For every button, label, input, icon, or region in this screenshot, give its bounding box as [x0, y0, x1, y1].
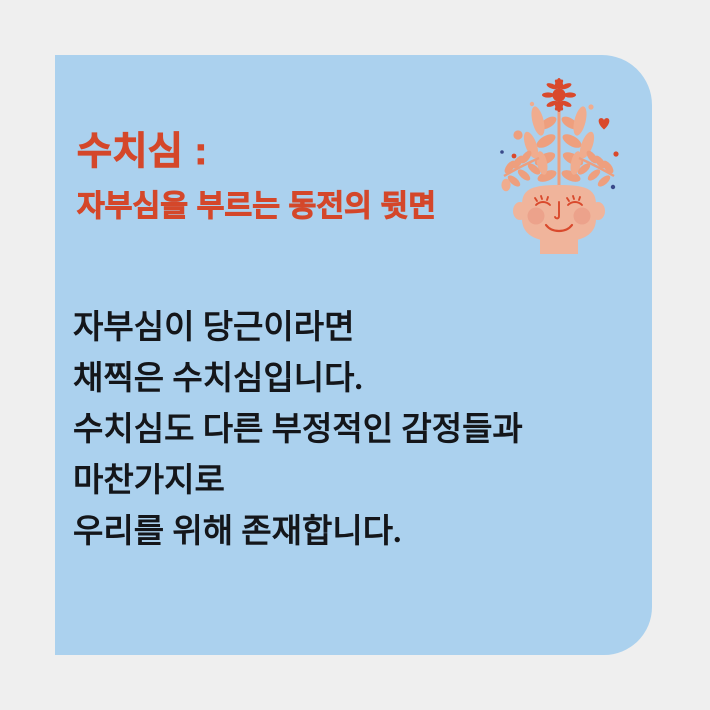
body-line: 채찍은 수치심입니다. [73, 354, 633, 405]
body-text-block: 자부심이 당근이라면 채찍은 수치심입니다. 수치심도 다른 부정적인 감정들과… [73, 303, 633, 558]
content-card: 수치심 : 자부심을 부르는 동전의 뒷면 자부심이 당근이라면 채찍은 수치심… [55, 55, 652, 655]
page-title: 수치심 : [77, 133, 597, 173]
body-line: 우리를 위해 존재합니다. [73, 507, 633, 558]
page-subtitle: 자부심을 부르는 동전의 뒷면 [77, 191, 597, 223]
neck [540, 235, 578, 254]
body-line: 수치심도 다른 부정적인 감정들과 [73, 405, 633, 456]
body-line: 마찬가지로 [73, 456, 633, 507]
body-line: 자부심이 당근이라면 [73, 303, 633, 354]
poster-canvas: 수치심 : 자부심을 부르는 동전의 뒷면 자부심이 당근이라면 채찍은 수치심… [0, 0, 710, 710]
heart-icon [599, 118, 610, 129]
flower-icon [542, 78, 576, 113]
heading-block: 수치심 : 자부심을 부르는 동전의 뒷면 [77, 133, 597, 222]
